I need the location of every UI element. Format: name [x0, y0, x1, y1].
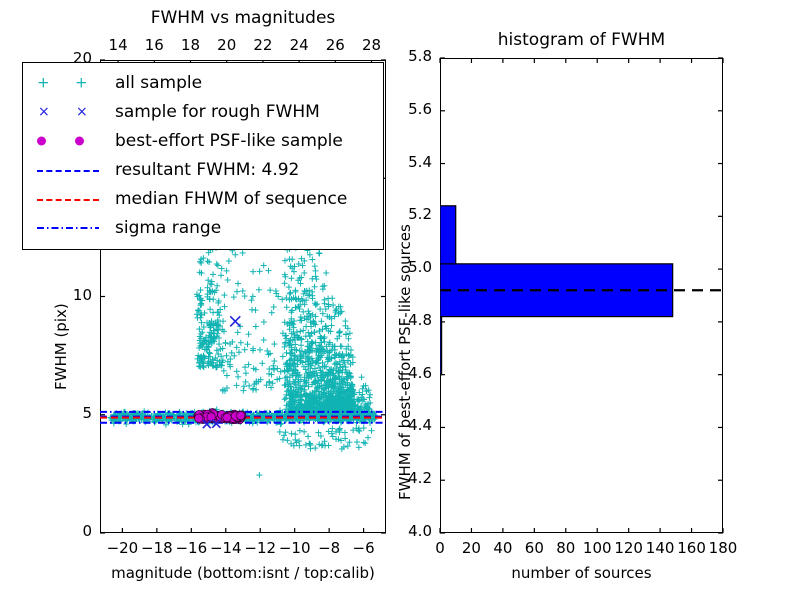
right-xtick-label: 40 — [493, 539, 512, 557]
left-toptick-label: 16 — [145, 36, 164, 54]
right-xtick-label: 0 — [435, 539, 445, 557]
right-ytick-label: 4.4 — [408, 416, 432, 434]
legend-label: all sample — [115, 73, 202, 93]
legend-label: best-effort PSF-like sample — [115, 131, 343, 151]
left-toptick-label: 20 — [217, 36, 236, 54]
left-xtick-label: −20 — [107, 539, 139, 557]
right-xtick-label: 160 — [677, 539, 706, 557]
legend-label: resultant FWHM: 4.92 — [115, 160, 299, 180]
right-ytick-label: 5.4 — [408, 153, 432, 171]
legend-marker-dot — [23, 126, 115, 155]
left-ytick-label: 10 — [73, 286, 92, 304]
right-xtick-label: 60 — [525, 539, 544, 557]
right-xtick-label: 20 — [462, 539, 481, 557]
legend-item-median-fhwm: median FHWM of sequence — [23, 184, 383, 213]
left-xtick-label: −16 — [175, 539, 207, 557]
right-ytick-label: 5.6 — [408, 100, 432, 118]
left-xtick-label: −18 — [141, 539, 173, 557]
right-ytick-label: 5.0 — [408, 258, 432, 276]
figure-canvas: FWHM vs magnitudes magnitude (bottom:isn… — [0, 0, 800, 600]
right-xtick-label: 180 — [709, 539, 738, 557]
right-ytick-label: 4.6 — [408, 364, 432, 382]
left-toptick-label: 24 — [290, 36, 309, 54]
legend-label: sample for rough FWHM — [115, 102, 320, 122]
left-ytick-label: 5 — [82, 404, 92, 422]
right-ytick-label: 5.8 — [408, 47, 432, 65]
legend-label: sigma range — [115, 218, 221, 238]
right-ytick-label: 4.8 — [408, 311, 432, 329]
right-xaxis-label: number of sources — [440, 564, 723, 582]
left-ytick-label: 0 — [82, 522, 92, 540]
right-xtick-label: 140 — [646, 539, 675, 557]
legend-label: median FHWM of sequence — [115, 189, 347, 209]
right-ytick-label: 4.2 — [408, 469, 432, 487]
legend-box: ++ all sample ×× sample for rough FWHM b… — [22, 62, 384, 250]
legend-marker-dashdot-blue — [23, 213, 115, 242]
legend-marker-plus: ++ — [23, 68, 115, 97]
left-toptick-label: 14 — [109, 36, 128, 54]
left-toptick-label: 28 — [362, 36, 381, 54]
left-toptick-label: 22 — [253, 36, 272, 54]
left-xtick-label: −6 — [353, 539, 375, 557]
left-xtick-label: −8 — [318, 539, 340, 557]
legend-item-all-sample: ++ all sample — [23, 68, 383, 97]
right-xtick-label: 80 — [556, 539, 575, 557]
right-xtick-label: 120 — [614, 539, 643, 557]
right-ytick-label: 4.0 — [408, 522, 432, 540]
legend-item-rough-fwhm: ×× sample for rough FWHM — [23, 97, 383, 126]
legend-marker-cross: ×× — [23, 97, 115, 126]
legend-item-psf-like: best-effort PSF-like sample — [23, 126, 383, 155]
left-toptick-label: 26 — [326, 36, 345, 54]
legend-item-sigma-range: sigma range — [23, 213, 383, 242]
left-xtick-label: −14 — [210, 539, 242, 557]
left-toptick-label: 18 — [181, 36, 200, 54]
left-xtick-label: −12 — [244, 539, 276, 557]
legend-marker-dashed-blue — [23, 155, 115, 184]
legend-item-resultant-fwhm: resultant FWHM: 4.92 — [23, 155, 383, 184]
legend-marker-dashed-red — [23, 184, 115, 213]
left-xtick-label: −10 — [279, 539, 311, 557]
right-ytick-label: 5.2 — [408, 205, 432, 223]
right-xtick-label: 100 — [583, 539, 612, 557]
